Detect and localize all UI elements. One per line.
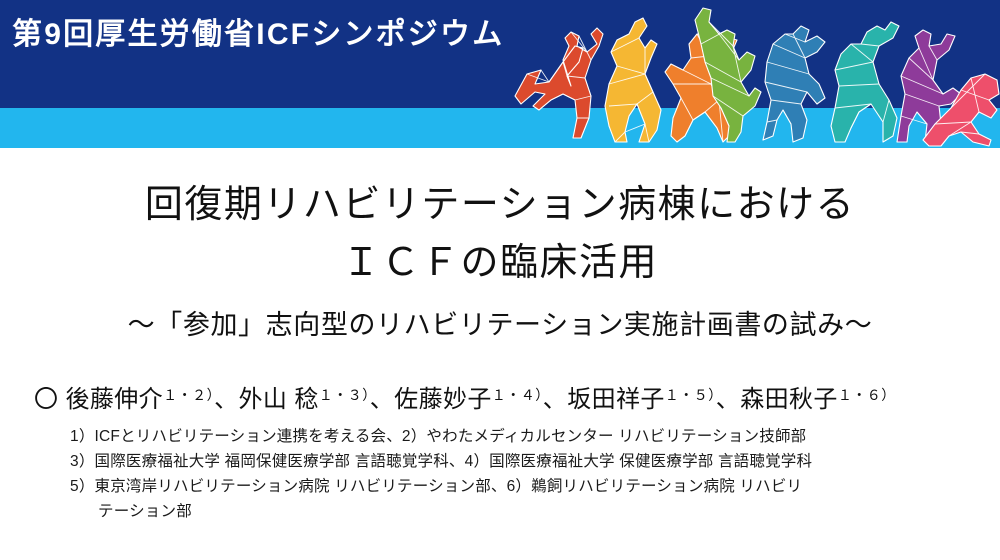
affiliation-line-continuation: テーション部: [70, 499, 970, 524]
affiliation-list: 1）ICFとリハビリテーション連携を考える会、2）やわたメディカルセンター リハ…: [70, 424, 970, 524]
author-affiliation-ref: １・６）: [838, 387, 896, 403]
author-affiliation-ref: １・３）: [319, 387, 370, 403]
slide-title: 回復期リハビリテーション病棟における ＩＣＦの臨床活用: [0, 176, 1000, 292]
title-line-1: 回復期リハビリテーション病棟における: [0, 176, 1000, 234]
affiliation-line: 1）ICFとリハビリテーション連携を考える会、2）やわたメディカルセンター リハ…: [70, 424, 970, 449]
author-separator: 、: [370, 386, 394, 413]
presenter-marker: 〇: [34, 386, 65, 413]
author-separator: 、: [716, 386, 740, 413]
author-name: 後藤伸介１・２）: [65, 386, 214, 413]
author-affiliation-ref: １・２）: [163, 387, 214, 403]
author-affiliation-ref: １・５）: [665, 387, 716, 403]
author-name: 坂田祥子１・５）: [567, 386, 716, 413]
author-name: 佐藤妙子１・４）: [394, 386, 543, 413]
author-name: 外山 稔１・３）: [238, 386, 369, 413]
author-separator: 、: [543, 386, 567, 413]
affiliation-line: 3）国際医療福祉大学 福岡保健医療学部 言語聴覚学科、4）国際医療福祉大学 保健…: [70, 449, 970, 474]
figure-teal: [831, 22, 899, 142]
presentation-slide: 第9回厚生労働省ICFシンポジウム: [0, 0, 1000, 560]
figure-yellow: [605, 18, 661, 142]
author-affiliation-ref: １・４）: [492, 387, 543, 403]
author-name: 森田秋子１・６）: [740, 386, 896, 413]
figure-steel-blue: [763, 26, 825, 142]
author-list: 〇 後藤伸介１・２）、外山 稔１・３）、佐藤妙子１・４）、坂田祥子１・５）、森田…: [34, 378, 974, 417]
slide-header-banner: 第9回厚生労働省ICFシンポジウム: [0, 0, 1000, 148]
affiliation-line: 5）東京湾岸リハビリテーション病院 リハビリテーション部、6）鵜飼リハビリテーシ…: [70, 474, 970, 499]
slide-subtitle: 〜「参加」志向型のリハビリテーション実施計画書の試み〜: [0, 306, 1000, 344]
dancing-figures-artwork: [505, 0, 1000, 148]
author-separator: 、: [214, 386, 238, 413]
symposium-title: 第9回厚生労働省ICFシンポジウム: [12, 17, 504, 53]
figure-red: [515, 28, 603, 138]
title-line-2: ＩＣＦの臨床活用: [0, 234, 1000, 292]
